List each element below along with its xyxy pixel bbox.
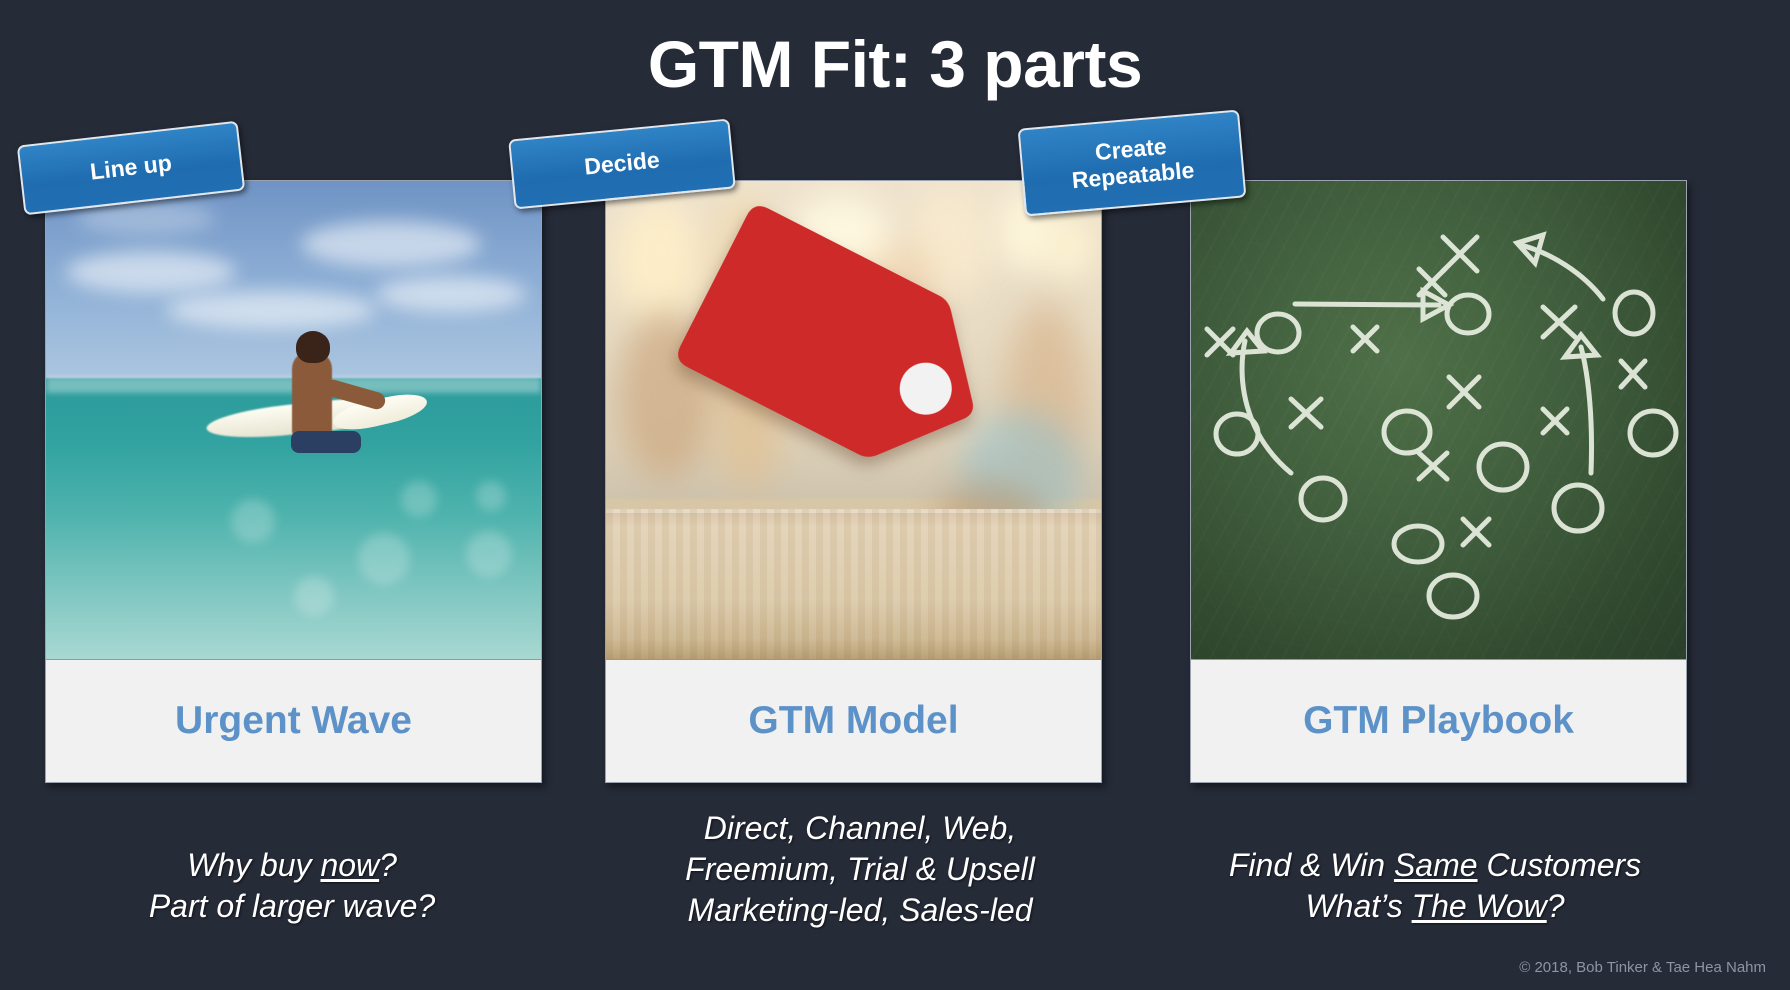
card-image-surfer: [46, 181, 541, 660]
page-title: GTM Fit: 3 parts: [0, 26, 1790, 102]
retail-bokeh-photo: [606, 181, 1101, 659]
card-image-price-tag: [606, 181, 1101, 660]
chalkboard-photo: [1191, 181, 1686, 659]
note-gtm-model: Direct, Channel, Web,Freemium, Trial & U…: [580, 808, 1140, 931]
note-line: What’s The Wow?: [1155, 886, 1715, 927]
play-diagram: [1191, 181, 1686, 659]
card-gtm-model[interactable]: GTM Model Decide: [605, 180, 1102, 783]
column-gtm-playbook: GTM Playbook CreateRepeatable: [1190, 180, 1685, 783]
column-gtm-model: GTM Model Decide: [605, 180, 1100, 783]
card-caption-gtm-playbook: GTM Playbook: [1191, 660, 1686, 782]
note-line: Part of larger wave?: [12, 886, 572, 927]
card-urgent-wave[interactable]: Urgent Wave Line up: [45, 180, 542, 783]
card-gtm-playbook[interactable]: GTM Playbook CreateRepeatable: [1190, 180, 1687, 783]
badge-create-repeatable-label: CreateRepeatable: [1069, 132, 1196, 194]
note-line: Why buy now?: [12, 845, 572, 886]
note-line: Find & Win Same Customers: [1155, 845, 1715, 886]
column-urgent-wave: Urgent Wave Line up: [45, 180, 540, 783]
note-gtm-playbook: Find & Win Same CustomersWhat’s The Wow?: [1155, 845, 1715, 927]
note-line: Direct, Channel, Web,: [580, 808, 1140, 849]
note-urgent-wave: Why buy now?Part of larger wave?: [12, 845, 572, 927]
card-caption-urgent-wave: Urgent Wave: [46, 660, 541, 782]
ocean-photo: [46, 181, 541, 659]
slide-canvas: GTM Fit: 3 parts: [0, 0, 1790, 990]
copyright-notice: © 2018, Bob Tinker & Tae Hea Nahm: [1519, 959, 1766, 976]
note-line: Freemium, Trial & Upsell: [580, 849, 1140, 890]
note-line: Marketing-led, Sales-led: [580, 890, 1140, 931]
card-caption-gtm-model: GTM Model: [606, 660, 1101, 782]
card-image-playbook: [1191, 181, 1686, 660]
